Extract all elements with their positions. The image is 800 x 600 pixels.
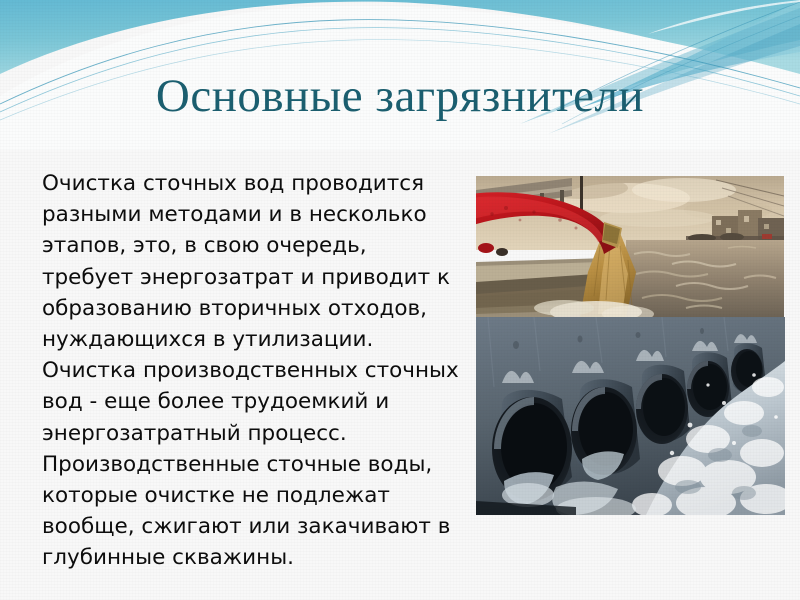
slide-body-text: Очистка сточных вод проводится разными м… (42, 168, 462, 574)
image-red-pipe-discharging-polluted-water (476, 176, 784, 317)
slide-title: Основные загрязнители (0, 72, 800, 121)
presentation-slide: Основные загрязнители Очистка сточных во… (0, 0, 800, 600)
image-row-of-drainage-pipes-discharging-water (476, 317, 785, 515)
